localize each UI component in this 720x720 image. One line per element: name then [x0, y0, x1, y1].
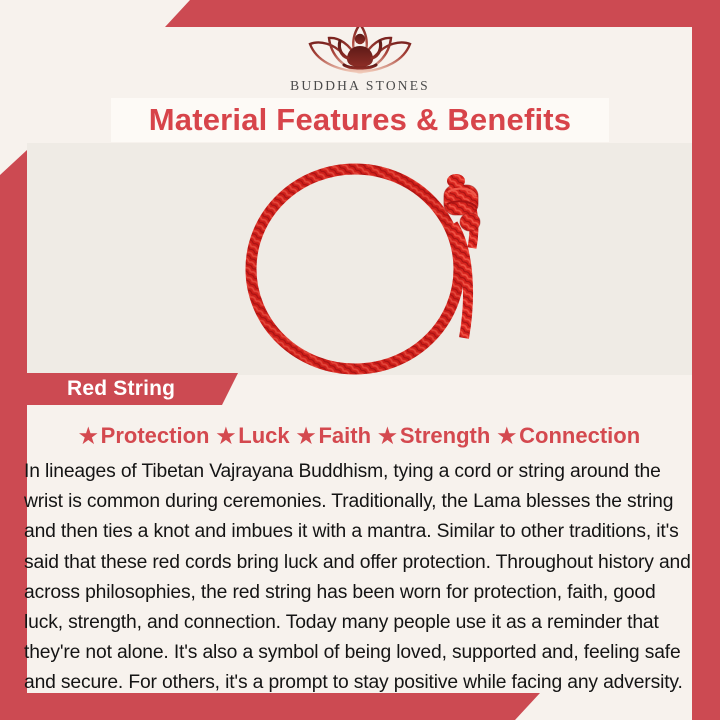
decorative-right-bar [692, 0, 720, 720]
star-icon: ★ [79, 426, 98, 447]
benefit-item-faith: ★ Faith [297, 423, 371, 449]
infographic-poster: BUDDHA STONES Material Features & Benefi… [0, 0, 720, 720]
benefit-label: Strength [400, 423, 490, 449]
benefit-item-strength: ★ Strength [378, 423, 490, 449]
benefit-item-protection: ★ Protection [79, 423, 210, 449]
page-title: Material Features & Benefits [149, 102, 572, 138]
decorative-left-bar [0, 150, 27, 720]
star-icon: ★ [216, 426, 235, 447]
star-icon: ★ [378, 426, 397, 447]
star-icon: ★ [497, 426, 516, 447]
star-icon: ★ [297, 426, 316, 447]
benefits-row: ★ Protection ★ Luck ★ Faith ★ Strength ★… [27, 418, 692, 454]
product-label-text: Red String [24, 377, 175, 401]
title-banner: Material Features & Benefits [111, 98, 609, 142]
product-label-ribbon: Red String [24, 373, 238, 405]
description-paragraph: In lineages of Tibetan Vajrayana Buddhis… [24, 457, 696, 699]
brand-wordmark: BUDDHA STONES [285, 78, 435, 94]
benefit-label: Connection [519, 423, 640, 449]
benefit-item-connection: ★ Connection [497, 423, 640, 449]
benefit-item-luck: ★ Luck [216, 423, 289, 449]
red-braided-cord-bracelet-image [232, 152, 497, 377]
benefit-label: Luck [238, 423, 289, 449]
benefit-label: Faith [318, 423, 371, 449]
benefit-label: Protection [101, 423, 210, 449]
